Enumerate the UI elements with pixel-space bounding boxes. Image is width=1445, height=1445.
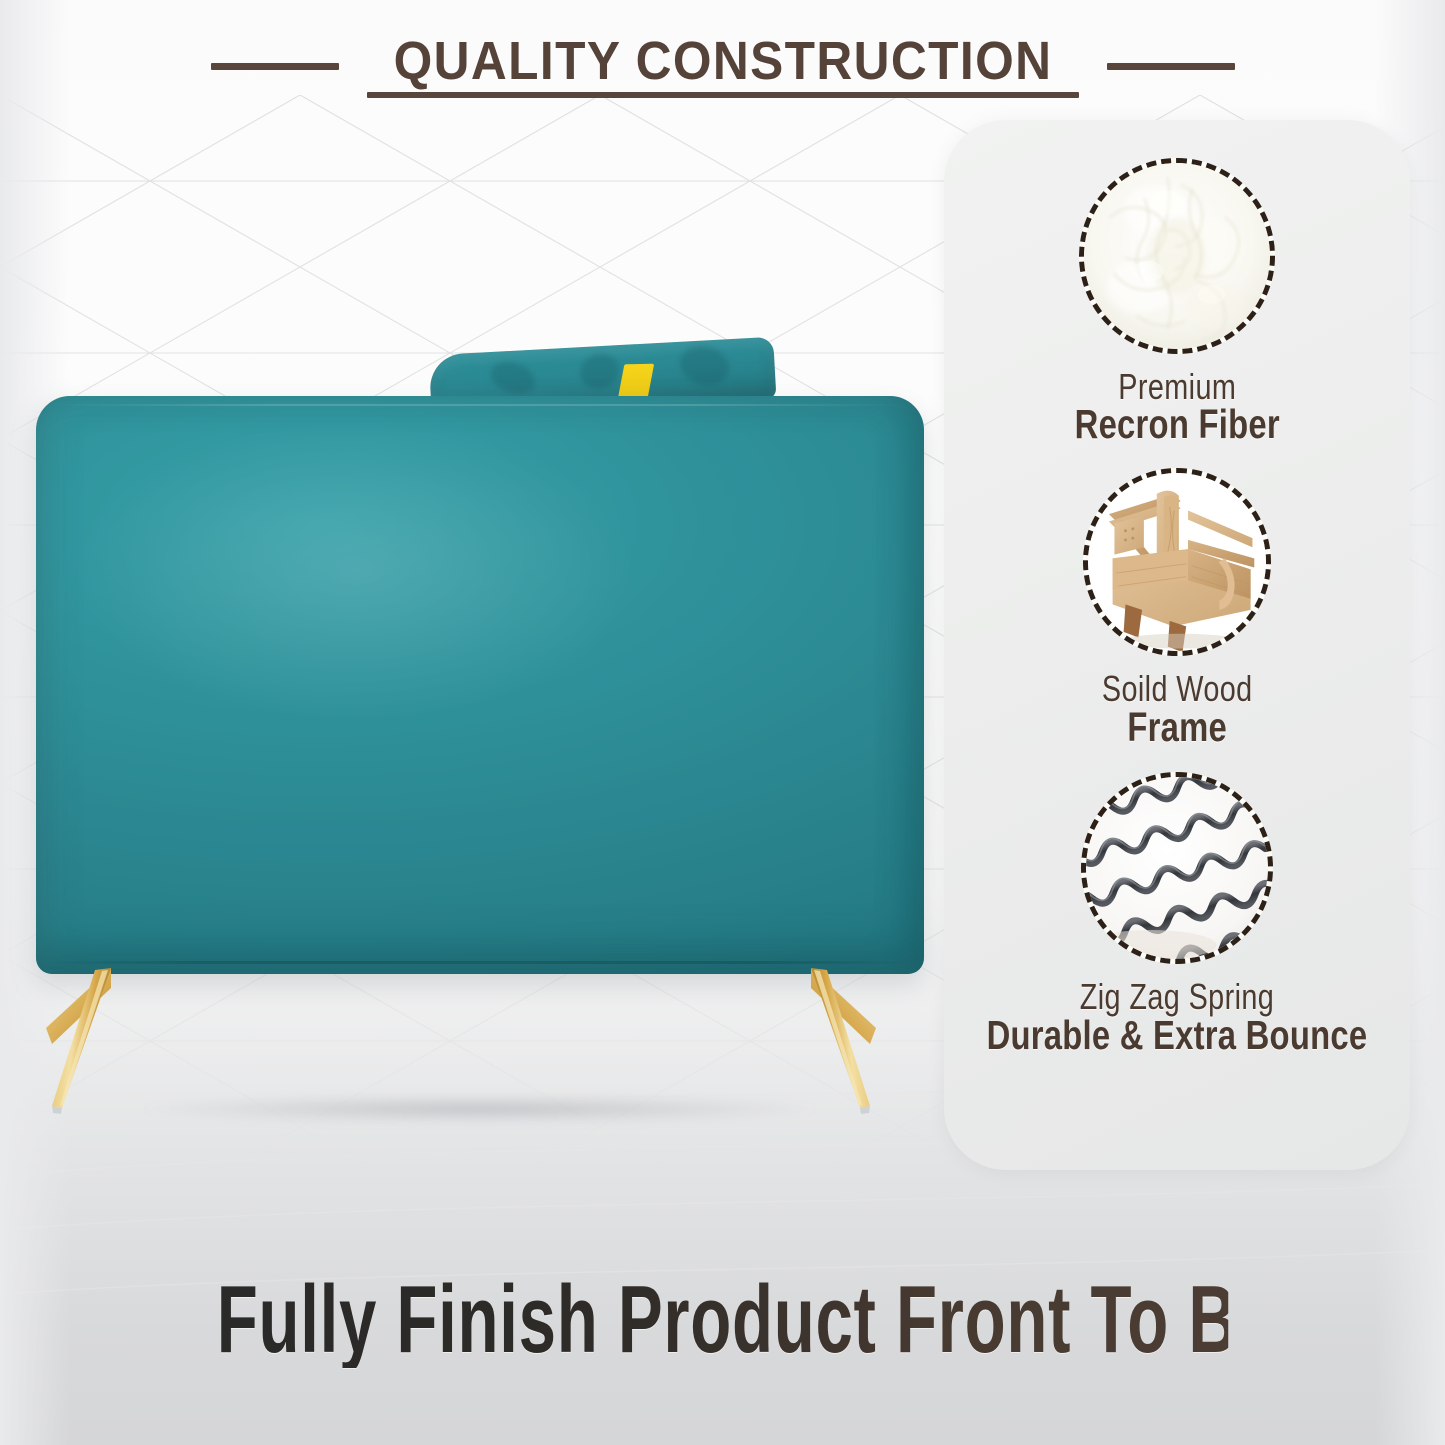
feature-label-line1: Zig Zag Spring <box>987 978 1368 1015</box>
infographic-canvas: QUALITY CONSTRUCTION <box>0 0 1445 1445</box>
decorative-rule-right <box>1107 63 1235 70</box>
page-title: QUALITY CONSTRUCTION <box>393 34 1052 88</box>
recron-fiber-icon <box>1079 158 1275 354</box>
product-image <box>0 110 960 1170</box>
feature-item-recron-fiber: Premium Recron Fiber <box>944 158 1410 446</box>
feature-label-line1: Soild Wood <box>1102 670 1253 707</box>
zigzag-spring-icon <box>1081 772 1273 964</box>
cushion-fold <box>486 356 539 399</box>
title-wrap: QUALITY CONSTRUCTION <box>365 34 1081 98</box>
quality-features-panel: Premium Recron Fiber <box>944 120 1410 1170</box>
feature-label-line2: Frame <box>1102 706 1253 749</box>
floor-shadow <box>40 1092 920 1126</box>
cushion-fold <box>675 341 733 391</box>
feature-item-zigzag-spring: Zig Zag Spring Durable & Extra Bounce <box>944 772 1410 1056</box>
feature-label-line1: Premium <box>1074 368 1279 405</box>
sofa-seam-top <box>54 404 906 406</box>
sofa-seam-bottom <box>46 961 914 964</box>
footer-tagline: Fully Finish Product Front To Back <box>217 1272 1229 1368</box>
header: QUALITY CONSTRUCTION <box>0 22 1445 110</box>
cushion-fold <box>576 349 624 393</box>
fabric-sheen <box>72 419 640 720</box>
decorative-rule-left <box>211 63 339 70</box>
sofa-leg-left <box>16 966 114 1116</box>
sofa-body <box>36 396 924 974</box>
feature-label-recron-fiber: Premium Recron Fiber <box>1049 368 1306 446</box>
feature-label-zigzag-spring: Zig Zag Spring Durable & Extra Bounce <box>939 978 1415 1056</box>
sofa-leg-right <box>808 966 906 1116</box>
feature-label-line2: Recron Fiber <box>1074 403 1279 446</box>
feature-label-line2: Durable & Extra Bounce <box>987 1014 1368 1057</box>
feature-item-wood-frame: Soild Wood Frame <box>944 468 1410 748</box>
feature-label-wood-frame: Soild Wood Frame <box>1083 670 1271 748</box>
wood-frame-icon <box>1083 468 1271 656</box>
title-underline <box>367 92 1079 98</box>
